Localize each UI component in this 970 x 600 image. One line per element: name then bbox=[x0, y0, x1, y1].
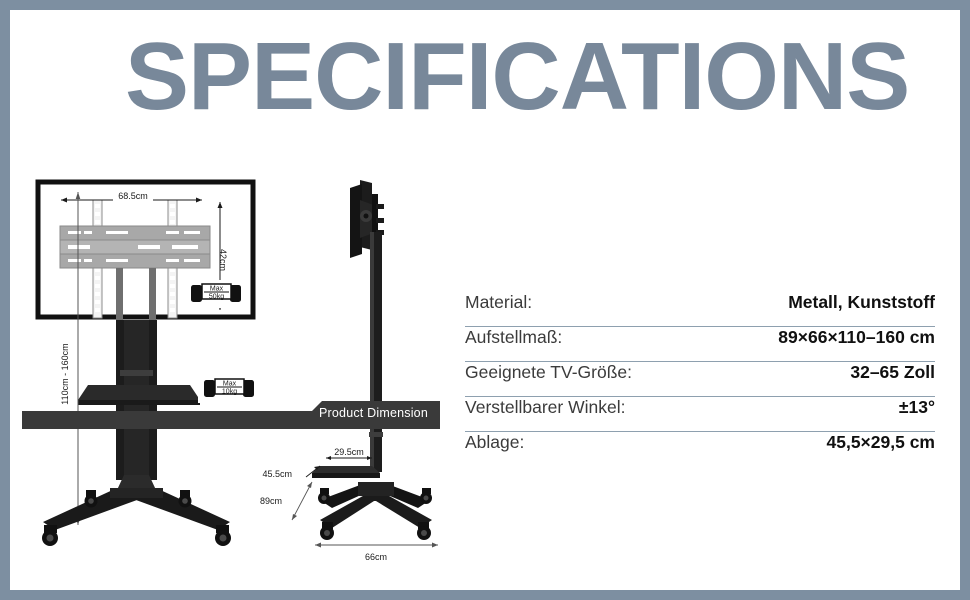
dim-tv-width-label: 68.5cm bbox=[118, 191, 148, 201]
caption-ribbon-label: Product Dimension bbox=[319, 406, 428, 420]
dim-shelf-width: 29.5cm bbox=[326, 447, 372, 460]
spec-label: Geeignete TV-Größe: bbox=[465, 362, 632, 383]
spec-label: Ablage: bbox=[465, 432, 524, 453]
specifications-page: SPECIFICATIONS bbox=[0, 0, 970, 600]
table-row: Aufstellmaß: 89×66×110–160 cm bbox=[465, 327, 935, 362]
column-joint bbox=[120, 370, 153, 376]
table-row: Ablage: 45,5×29,5 cm bbox=[465, 432, 935, 467]
dim-base-depth: 89cm bbox=[260, 482, 312, 520]
tv-load-badge: Max 50kg bbox=[185, 280, 247, 308]
spec-label: Verstellbarer Winkel: bbox=[465, 397, 625, 418]
side-caster-left-rear bbox=[318, 488, 330, 504]
shelf-load-badge-line1: Max bbox=[223, 381, 237, 388]
caster-rear-left bbox=[85, 490, 98, 508]
spec-value: Metall, Kunststoff bbox=[788, 292, 935, 313]
side-caster-right-rear bbox=[420, 488, 432, 504]
spec-value: ±13° bbox=[899, 397, 935, 418]
side-caster-right-front bbox=[417, 522, 431, 540]
dim-shelf-depth: 45.5cm bbox=[262, 466, 320, 479]
spec-value: 45,5×29,5 cm bbox=[827, 432, 936, 453]
product-dimension-caption: Product Dimension bbox=[22, 401, 440, 429]
front-base-legs bbox=[42, 475, 231, 546]
dim-shelf-width-label: 29.5cm bbox=[334, 447, 364, 457]
side-shelf bbox=[312, 466, 380, 478]
page-title: SPECIFICATIONS bbox=[125, 24, 909, 130]
side-caster-left-front bbox=[320, 522, 334, 540]
caster-front-right bbox=[215, 525, 231, 546]
spec-value: 89×66×110–160 cm bbox=[778, 327, 935, 348]
caster-rear-right bbox=[179, 490, 192, 508]
shelf-load-badge-line2: 10kg bbox=[222, 389, 237, 396]
product-diagram-svg: 68.5cm 42cm Max bbox=[20, 170, 460, 590]
tv-panel-top-highlight bbox=[38, 180, 158, 184]
table-row: Material: Metall, Kunststoff bbox=[465, 292, 935, 327]
dim-base-width: 66cm bbox=[315, 543, 438, 563]
side-base-legs bbox=[318, 482, 432, 540]
product-dimension-figure: 68.5cm 42cm Max bbox=[20, 170, 460, 590]
spec-label: Aufstellmaß: bbox=[465, 327, 562, 348]
side-column-joint bbox=[369, 432, 383, 437]
side-view-group: 29.5cm 45.5cm bbox=[260, 180, 438, 562]
tv-load-badge-line2: 50kg bbox=[209, 294, 224, 301]
caster-front-left bbox=[42, 525, 58, 546]
dim-base-width-label: 66cm bbox=[365, 552, 387, 562]
dim-tv-height-label: 42cm bbox=[218, 249, 228, 271]
table-row: Verstellbarer Winkel: ±13° bbox=[465, 397, 935, 432]
shelf-load-badge: Max 10kg bbox=[198, 375, 260, 403]
front-view-group: 68.5cm 42cm Max bbox=[38, 180, 260, 546]
table-row: Geeignete TV-Größe: 32–65 Zoll bbox=[465, 362, 935, 397]
tv-load-badge-line1: Max bbox=[210, 286, 224, 293]
spec-value: 32–65 Zoll bbox=[850, 362, 935, 383]
spec-label: Material: bbox=[465, 292, 532, 313]
specifications-table: Material: Metall, Kunststoff Aufstellmaß… bbox=[465, 292, 935, 467]
dim-height-range-label: 110cm - 160cm bbox=[60, 343, 70, 404]
dim-base-depth-label: 89cm bbox=[260, 496, 282, 506]
dim-shelf-depth-label: 45.5cm bbox=[262, 469, 292, 479]
